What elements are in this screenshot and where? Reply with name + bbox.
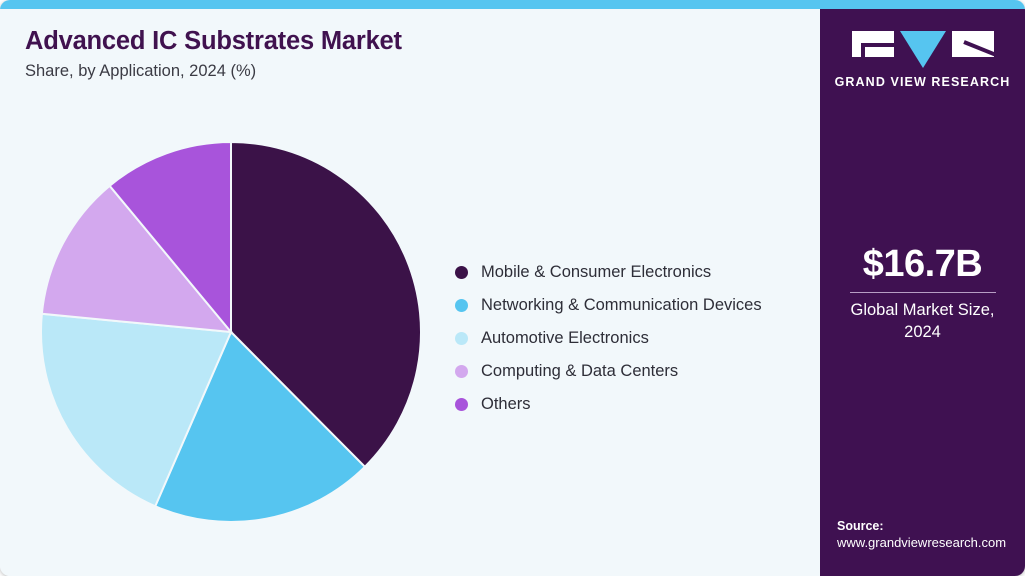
legend-item: Automotive Electronics [455,322,762,355]
page-title: Advanced IC Substrates Market [25,27,402,56]
stat-caption: Global Market Size, 2024 [820,300,1025,344]
legend-swatch-icon [455,365,468,378]
source-block: Source: www.grandviewresearch.com [837,519,1006,550]
legend-label: Automotive Electronics [481,329,649,348]
chart-legend: Mobile & Consumer ElectronicsNetworking … [455,256,762,421]
logo-marks [820,31,1025,68]
source-label: Source: [837,519,1006,533]
top-accent-bar [0,0,1025,9]
legend-swatch-icon [455,266,468,279]
page-subtitle: Share, by Application, 2024 (%) [25,62,256,81]
logo-triangle-v-icon [900,31,946,68]
pie-slice-group [41,142,421,522]
legend-swatch-icon [455,398,468,411]
legend-swatch-icon [455,299,468,312]
brand-sidebar: GRAND VIEW RESEARCH $16.7B Global Market… [820,9,1025,576]
legend-item: Networking & Communication Devices [455,289,762,322]
logo-letter-g-icon [852,31,894,57]
pie-chart-svg [41,142,421,522]
legend-item: Mobile & Consumer Electronics [455,256,762,289]
legend-label: Computing & Data Centers [481,362,678,381]
brand-logo: GRAND VIEW RESEARCH [820,31,1025,89]
legend-label: Networking & Communication Devices [481,296,762,315]
stat-divider [850,292,996,293]
chart-card: Advanced IC Substrates Market Share, by … [0,0,1025,576]
legend-item: Others [455,388,762,421]
pie-chart [41,142,421,522]
legend-swatch-icon [455,332,468,345]
source-url: www.grandviewresearch.com [837,535,1006,550]
legend-item: Computing & Data Centers [455,355,762,388]
stat-value: $16.7B [820,243,1025,286]
market-size-stat: $16.7B Global Market Size, 2024 [820,243,1025,344]
logo-wordmark: GRAND VIEW RESEARCH [820,75,1025,89]
chart-panel: Advanced IC Substrates Market Share, by … [0,9,820,576]
logo-letter-r-icon [952,31,994,57]
legend-label: Others [481,395,531,414]
legend-label: Mobile & Consumer Electronics [481,263,711,282]
